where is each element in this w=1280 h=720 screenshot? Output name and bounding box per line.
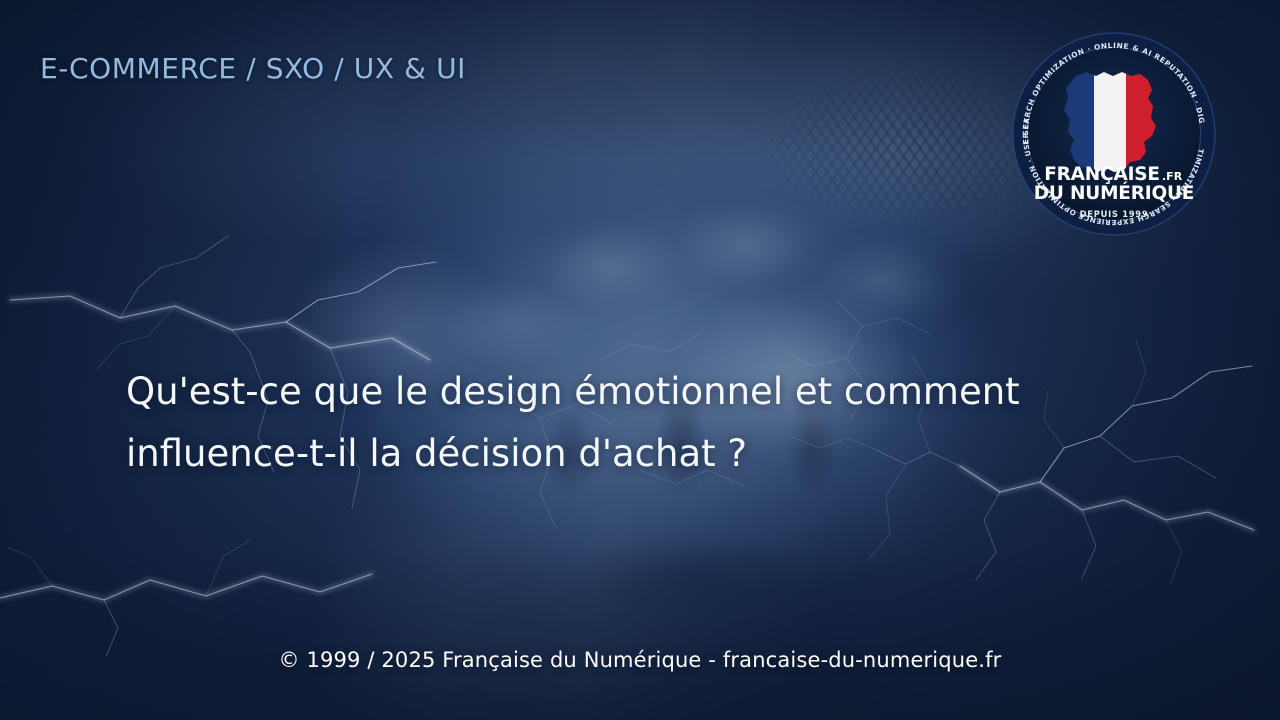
brand-logo[interactable]: ARTIFICIAL INTELLIGENCE SEARCH OPTIMIZAT…: [1012, 32, 1216, 236]
page-title: Qu'est-ce que le design émotionnel et co…: [126, 361, 1056, 485]
category-eyebrow: E-COMMERCE / SXO / UX & UI: [40, 52, 466, 85]
page-title-line-1: Qu'est-ce que le design émotionnel et co…: [126, 361, 1056, 423]
logo-brand-suffix: .FR: [1162, 170, 1183, 183]
logo-brand-line-2: DU NUMÉRIQUE: [1034, 182, 1195, 204]
footer-copyright: © 1999 / 2025 Française du Numérique - f…: [0, 648, 1280, 672]
logo-brand-line-1: FRANÇAISE: [1044, 164, 1160, 185]
hero-banner: E-COMMERCE / SXO / UX & UI Qu'est-ce que…: [0, 0, 1280, 720]
logo-since-label: DEPUIS 1999: [1080, 209, 1149, 219]
page-title-line-2: influence-t-il la décision d'achat ?: [126, 423, 1056, 485]
